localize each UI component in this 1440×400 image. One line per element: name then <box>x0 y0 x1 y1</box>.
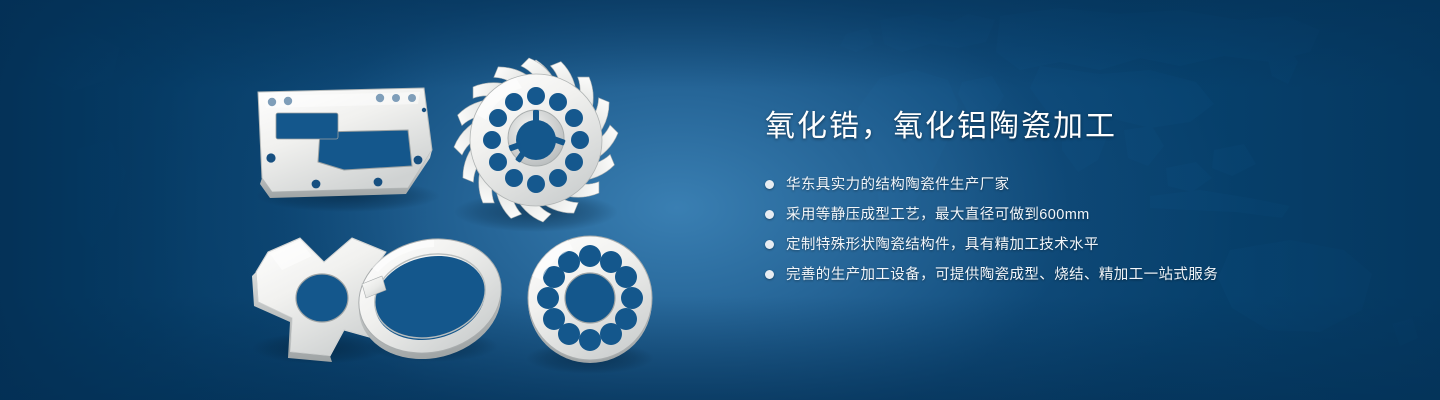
list-item: 华东具实力的结构陶瓷件生产厂家 <box>765 174 1385 196</box>
bullet-dot-icon <box>765 180 774 189</box>
ceramic-impeller <box>451 55 620 232</box>
hero-banner: 氧化锆，氧化铝陶瓷加工 华东具实力的结构陶瓷件生产厂家 采用等静压成型工艺，最大… <box>0 0 1440 400</box>
product-photo-cluster <box>0 0 720 400</box>
list-item: 定制特殊形状陶瓷结构件，具有精加工技术水平 <box>765 234 1385 256</box>
bullet-label: 华东具实力的结构陶瓷件生产厂家 <box>786 174 1010 196</box>
banner-headline: 氧化锆，氧化铝陶瓷加工 <box>765 108 1385 146</box>
bullet-dot-icon <box>765 270 774 279</box>
banner-text-block: 氧化锆，氧化铝陶瓷加工 华东具实力的结构陶瓷件生产厂家 采用等静压成型工艺，最大… <box>765 108 1385 294</box>
ceramic-plate-cutout <box>256 88 440 212</box>
bullet-label: 定制特殊形状陶瓷结构件，具有精加工技术水平 <box>786 234 1099 256</box>
list-item: 采用等静压成型工艺，最大直径可做到600mm <box>765 204 1385 226</box>
feature-bullet-list: 华东具实力的结构陶瓷件生产厂家 采用等静压成型工艺，最大直径可做到600mm 定… <box>765 174 1385 286</box>
bullet-dot-icon <box>765 240 774 249</box>
bullet-label: 完善的生产加工设备，可提供陶瓷成型、烧结、精加工一站式服务 <box>786 264 1218 286</box>
bullet-label: 采用等静压成型工艺，最大直径可做到600mm <box>786 204 1090 226</box>
ceramic-perforated-disc <box>526 236 654 374</box>
bullet-dot-icon <box>765 210 774 219</box>
list-item: 完善的生产加工设备，可提供陶瓷成型、烧结、精加工一站式服务 <box>765 264 1385 286</box>
